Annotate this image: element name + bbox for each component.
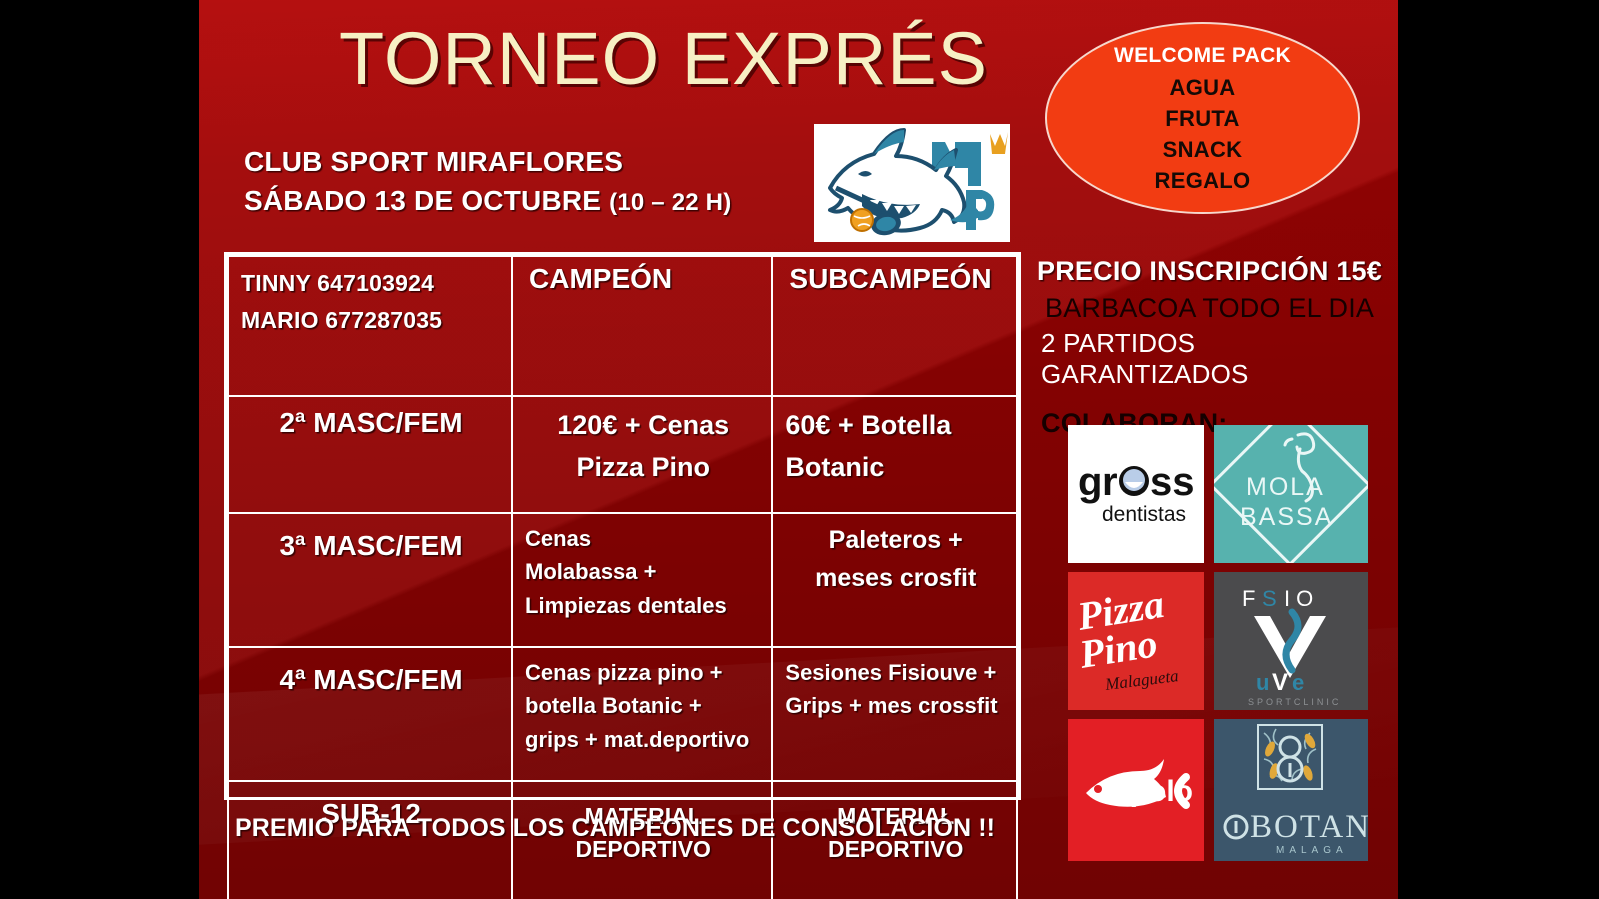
svg-text:F: F — [1242, 586, 1261, 611]
sponsor-logo-gross-dentistas[interactable]: g r ss dentistas — [1068, 425, 1204, 563]
welcome-pack-item-fruta: FRUTA — [1165, 103, 1239, 134]
pizza-pino-logo-icon: Pizza Pino Malagueta — [1068, 572, 1204, 710]
prize-line: Cenas — [525, 522, 761, 555]
sponsor-logo-pizza-pino[interactable]: Pizza Pino Malagueta — [1068, 572, 1204, 710]
welcome-pack-badge: WELCOME PACK AGUA FRUTA SNACK REGALO — [1045, 22, 1360, 214]
svg-text:ss: ss — [1150, 460, 1195, 504]
club-name: CLUB SPORT MIRAFLORES — [244, 143, 864, 182]
contact-tinny: TINNY 647103924 — [241, 265, 501, 302]
welcome-pack-item-snack: SNACK — [1163, 134, 1243, 165]
sponsor-logo-mola-bassa[interactable]: MOLA BASSA — [1214, 425, 1368, 563]
table-row: 4ª MASC/FEM Cenas pizza pino + botella B… — [228, 647, 1017, 781]
fisio-uve-logo-icon: F S IO u V e SPORTCLINIC — [1214, 572, 1368, 710]
svg-text:S: S — [1262, 586, 1283, 611]
sponsor-grid: g r ss dentistas — [1068, 425, 1368, 873]
svg-text:SPORTCLINIC: SPORTCLINIC — [1248, 697, 1341, 707]
club-logo — [814, 124, 1010, 242]
registration-price: PRECIO INSCRIPCIÓN 15€ — [1037, 256, 1397, 287]
category-4: 4ª MASC/FEM — [228, 647, 512, 781]
welcome-pack-item-agua: AGUA — [1170, 72, 1236, 103]
svg-text:BOTANIC: BOTANIC — [1250, 809, 1368, 845]
sponsor-logo-apolo[interactable]: Apolo — [1068, 719, 1204, 861]
column-header-campeon: CAMPEÓN — [512, 256, 772, 396]
sponsor-logo-botanic[interactable]: BOTANIC MALAGA — [1214, 719, 1368, 861]
prize-line: Paleteros + — [785, 522, 1006, 560]
gross-dentistas-logo-icon: g r ss dentistas — [1068, 425, 1204, 563]
contact-mario: MARIO 677287035 — [241, 302, 501, 339]
event-date: SÁBADO 13 DE OCTUBRE (10 – 22 H) — [244, 182, 864, 221]
poster-slide: TORNEO EXPRÉS CLUB SPORT MIRAFLORES SÁBA… — [199, 0, 1398, 899]
shark-mascot-icon — [814, 124, 1010, 242]
prize-line: Molabassa + — [525, 555, 761, 588]
table-row-header: TINNY 647103924 MARIO 677287035 CAMPEÓN … — [228, 256, 1017, 396]
prize-line: 60€ + Botella — [785, 405, 1006, 447]
svg-text:g: g — [1078, 460, 1102, 504]
prize-line: 120€ + Cenas — [525, 405, 761, 447]
barbecue-note: BARBACOA TODO EL DIA — [1037, 293, 1397, 324]
apolo-logo-icon: Apolo — [1068, 719, 1204, 861]
event-hours: (10 – 22 H) — [609, 189, 731, 216]
prize-line: Cenas pizza pino + — [525, 656, 761, 689]
club-and-date: CLUB SPORT MIRAFLORES SÁBADO 13 DE OCTUB… — [244, 143, 864, 220]
svg-text:V: V — [1272, 669, 1288, 696]
prize-table: TINNY 647103924 MARIO 677287035 CAMPEÓN … — [224, 252, 1021, 800]
category-2: 2ª MASC/FEM — [228, 396, 512, 513]
prize-line: grips + mat.deportivo — [525, 723, 761, 756]
page-title: TORNEO EXPRÉS — [339, 20, 959, 98]
svg-text:MOLA: MOLA — [1246, 473, 1325, 501]
poster-stage: TORNEO EXPRÉS CLUB SPORT MIRAFLORES SÁBA… — [0, 0, 1599, 899]
svg-text:MALAGA: MALAGA — [1276, 845, 1348, 856]
table-row: 3ª MASC/FEM Cenas Molabassa + Limpiezas … — [228, 513, 1017, 647]
column-header-subcampeon: SUBCAMPEÓN — [772, 256, 1017, 396]
prize-line: Limpiezas dentales — [525, 589, 761, 622]
svg-text:IO: IO — [1284, 586, 1319, 611]
prize-4-champion: Cenas pizza pino + botella Botanic + gri… — [512, 647, 772, 781]
event-date-text: SÁBADO 13 DE OCTUBRE — [244, 185, 609, 216]
table-row: 2ª MASC/FEM 120€ + Cenas Pizza Pino 60€ … — [228, 396, 1017, 513]
prize-line: meses crosfit — [785, 560, 1006, 598]
svg-text:r: r — [1102, 460, 1118, 504]
contacts-cell: TINNY 647103924 MARIO 677287035 — [228, 256, 512, 396]
welcome-pack-item-regalo: REGALO — [1155, 165, 1251, 196]
guaranteed-matches: 2 PARTIDOS GARANTIZADOS — [1037, 328, 1397, 390]
svg-text:dentistas: dentistas — [1102, 503, 1186, 526]
prize-line: Pizza Pino — [525, 447, 761, 489]
svg-text:u: u — [1256, 670, 1269, 695]
prize-line: Sesiones Fisiouve + — [785, 656, 1006, 689]
sponsor-logo-fisio-uve[interactable]: F S IO u V e SPORTCLINIC — [1214, 572, 1368, 710]
category-3: 3ª MASC/FEM — [228, 513, 512, 647]
prize-2-runnerup: 60€ + Botella Botanic — [772, 396, 1017, 513]
prize-line: Grips + mes crossfit — [785, 689, 1006, 722]
svg-text:e: e — [1292, 670, 1304, 695]
botanic-logo-icon: BOTANIC MALAGA — [1214, 719, 1368, 861]
prize-line: Botanic — [785, 447, 1006, 489]
consolation-banner: PREMIO PARA TODOS LOS CAMPEONES DE CONSO… — [235, 814, 1035, 843]
welcome-pack-title: WELCOME PACK — [1114, 44, 1291, 68]
mola-bassa-logo-icon: MOLA BASSA — [1214, 425, 1368, 563]
prize-3-runnerup: Paleteros + meses crosfit — [772, 513, 1017, 647]
info-column: PRECIO INSCRIPCIÓN 15€ BARBACOA TODO EL … — [1037, 256, 1397, 439]
prize-4-runnerup: Sesiones Fisiouve + Grips + mes crossfit — [772, 647, 1017, 781]
prize-3-champion: Cenas Molabassa + Limpiezas dentales — [512, 513, 772, 647]
prize-line: botella Botanic + — [525, 689, 761, 722]
svg-text:BASSA: BASSA — [1240, 503, 1333, 531]
prize-2-champion: 120€ + Cenas Pizza Pino — [512, 396, 772, 513]
